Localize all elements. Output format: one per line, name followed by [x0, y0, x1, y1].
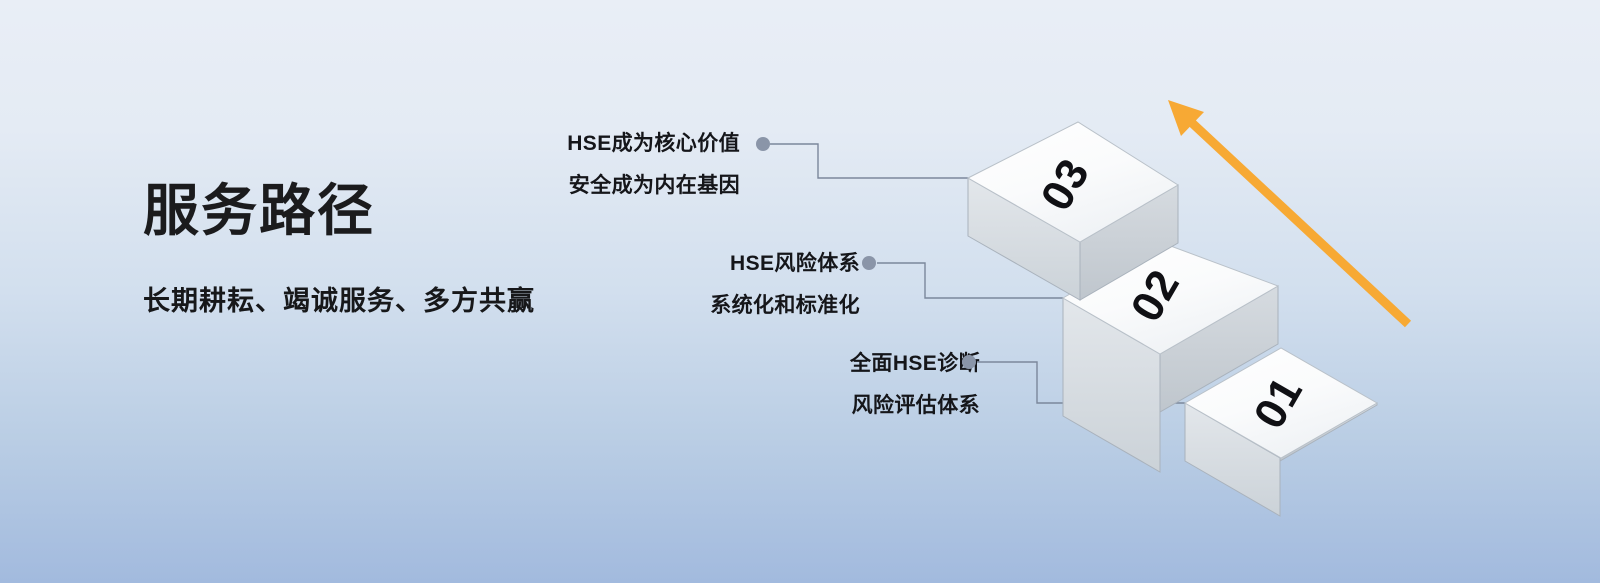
isometric-staircase-graphic: 01 02 03 [0, 0, 1600, 583]
connector-01-dot [962, 355, 976, 369]
connector-03-line [770, 144, 968, 178]
connector-03-dot [756, 137, 770, 151]
connector-03 [756, 137, 968, 178]
connector-02-dot [862, 256, 876, 270]
slide-canvas: 服务路径 长期耕耘、竭诚服务、多方共赢 HSE成为核心价值 安全成为内在基因 H… [0, 0, 1600, 583]
